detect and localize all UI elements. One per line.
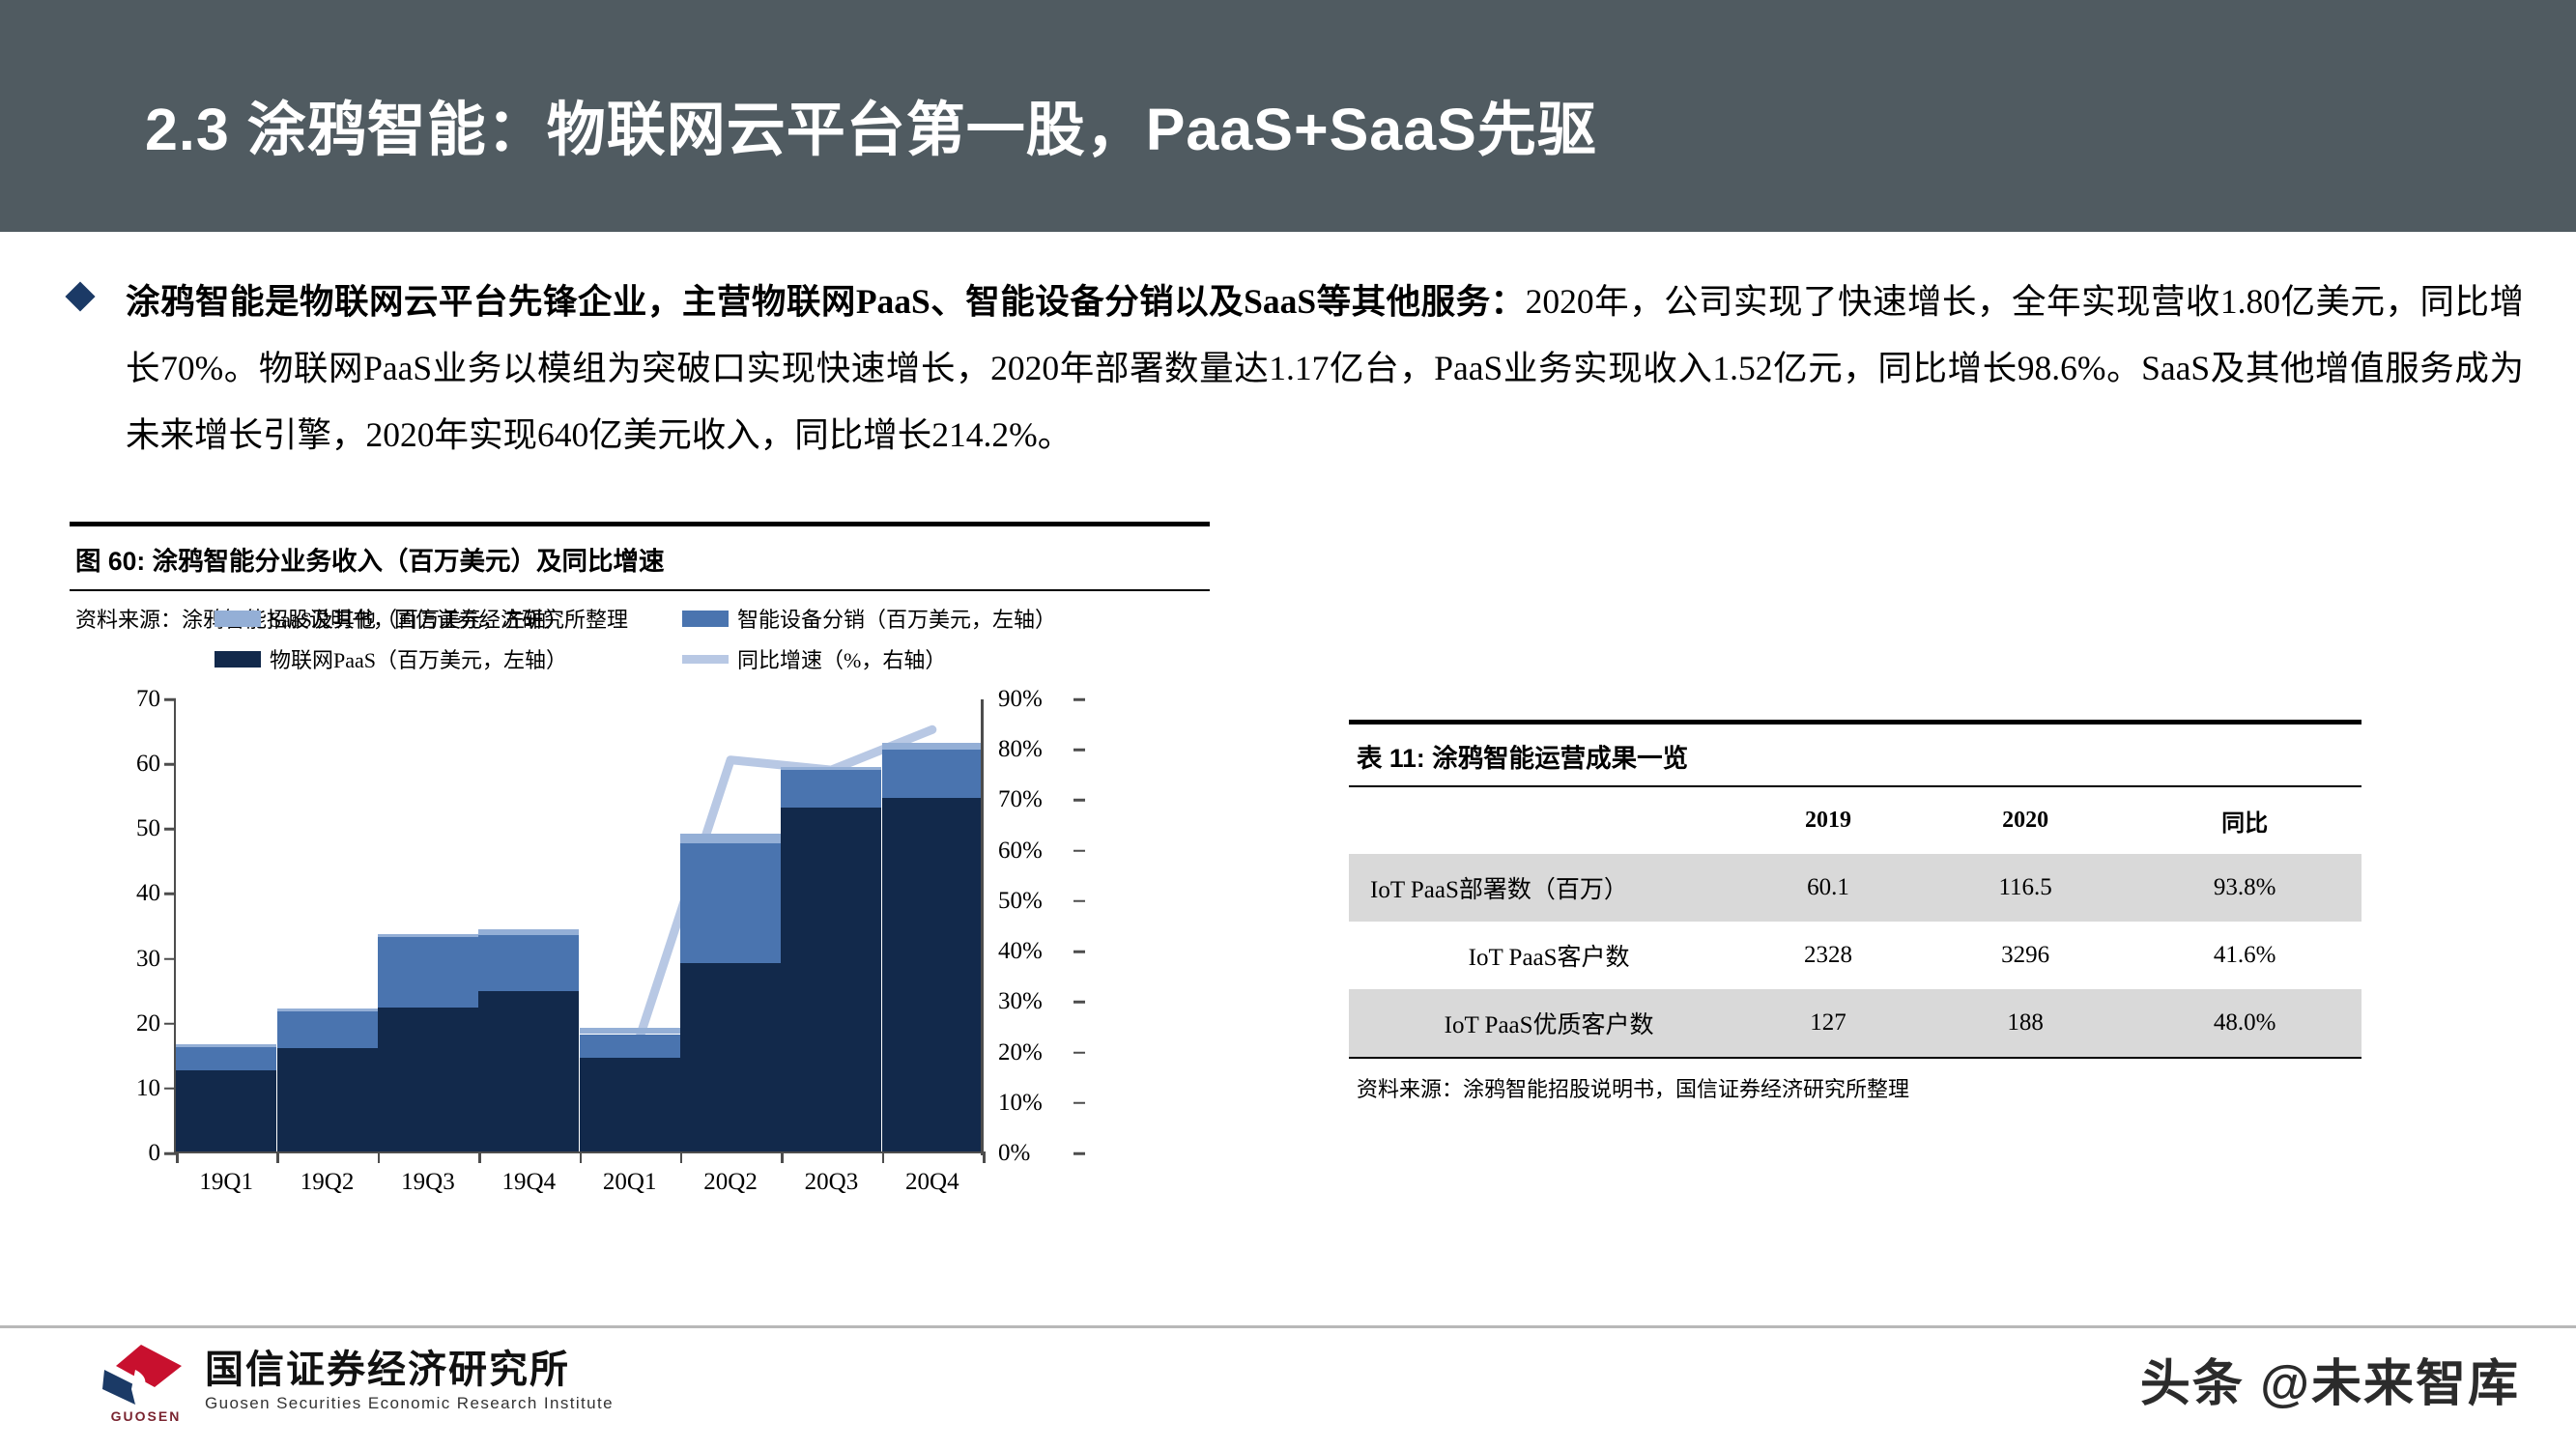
table-header-yoy: 同比 [2128,787,2361,854]
y-axis-right-tickmark [1073,1152,1085,1155]
legend-item-distribution: 智能设备分销（百万美元，左轴） [682,603,1056,634]
table-cell-label: IoT PaaS优质客户数 [1349,989,1733,1057]
legend-swatch-icon-paas [215,651,261,668]
bar-segment-distribution [378,937,478,1008]
y-axis-right-tickmark [1073,799,1085,802]
legend-label-paas: 物联网PaaS（百万美元，左轴） [270,643,567,674]
bar-segment-saas [580,1028,680,1034]
bar-segment-paas [580,1058,680,1151]
table-panel: 表 11: 涂鸦智能运营成果一览 2019 2020 同比 IoT PaaS部署… [1349,720,2361,1103]
y-axis-right-tick-label: 10% [998,1090,1043,1117]
bar-segment-distribution [680,843,781,963]
table-header-row: 2019 2020 同比 [1349,787,2361,854]
y-axis-right-tick-label: 60% [998,838,1043,865]
bar-segment-paas [781,808,881,1151]
y-axis-right-tickmark [1073,698,1085,701]
y-axis-left-tickmark [164,1022,176,1025]
slide-page: 2.3 涂鸦智能：物联网云平台第一股，PaaS+SaaS先驱 涂鸦智能是物联网云… [0,0,2576,1449]
bullet-paragraph: 涂鸦智能是物联网云平台先锋企业，主营物联网PaaS、智能设备分销以及SaaS等其… [126,269,2524,469]
table-cell-c2019: 127 [1733,989,1923,1057]
bar-segment-distribution [580,1035,680,1058]
y-axis-right-tick-label: 50% [998,888,1043,915]
legend-label-growth: 同比增速（%，右轴） [737,643,946,674]
y-axis-right-tickmark [1073,749,1085,752]
bar-segment-paas [882,798,983,1151]
table-source: 资料来源：涂鸦智能招股说明书，国信证券经济研究所整理 [1349,1059,2361,1103]
logo-name-cn: 国信证券经济研究所 [205,1350,614,1391]
bar-segment-saas [176,1044,276,1047]
y-axis-left-tickmark [164,893,176,895]
y-axis-left-tickmark [164,698,176,701]
table-cell-yoy: 41.6% [2128,922,2361,989]
x-axis-tick-label: 20Q4 [882,1169,983,1196]
bar-segment-distribution [882,750,983,798]
y-axis-left-tick-label: 70 [136,686,160,713]
x-axis-tickmark [680,1151,683,1163]
legend-item-growth: 同比增速（%，右轴） [682,643,946,674]
x-axis-tick-label: 19Q2 [277,1169,378,1196]
bar-segment-paas [378,1008,478,1151]
y-axis-right-tickmark [1073,1001,1085,1004]
table-header-2020: 2020 [1923,787,2128,854]
legend-swatch-icon-distribution [682,611,729,627]
x-axis-tick-label: 20Q3 [781,1169,881,1196]
bar-segment-saas [680,834,781,843]
table-body: IoT PaaS部署数（百万）60.1116.593.8%IoT PaaS客户数… [1349,854,2361,1057]
bar-segment-paas [176,1070,276,1151]
table-cell-yoy: 93.8% [2128,854,2361,922]
chart: SaaS及其他（百万美元，左轴） 智能设备分销（百万美元，左轴） 物联网PaaS… [70,591,1210,1267]
bar-segment-saas [277,1009,378,1011]
table-cell-label: IoT PaaS部署数（百万） [1349,854,1733,922]
bar-segment-distribution [277,1011,378,1048]
table-cell-label: IoT PaaS客户数 [1349,922,1733,989]
bar-segment-paas [680,963,781,1151]
table-caption: 表 11: 涂鸦智能运营成果一览 [1349,724,2361,785]
figure-caption: 图 60: 涂鸦智能分业务收入（百万美元）及同比增速 [70,526,1210,589]
bar-segment-paas [277,1048,378,1151]
bar-segment-saas [781,767,881,770]
table-cell-c2019: 60.1 [1733,854,1923,922]
bar-segment-saas [478,929,579,935]
y-axis-right-tick-label: 0% [998,1140,1030,1167]
chart-right-axis-line [981,699,984,1155]
legend-item-saas: SaaS及其他（百万美元，左轴） [215,603,567,634]
x-axis-tickmark [580,1151,583,1163]
table-cell-c2020: 188 [1923,989,2128,1057]
x-axis-tick-label: 20Q2 [680,1169,781,1196]
y-axis-right-tickmark [1073,1102,1085,1105]
y-axis-left-tick-label: 0 [149,1140,161,1167]
table-header-2019: 2019 [1733,787,1923,854]
legend-item-paas: 物联网PaaS（百万美元，左轴） [215,643,567,674]
y-axis-right-tickmark [1073,900,1085,903]
operations-table: 2019 2020 同比 IoT PaaS部署数（百万）60.1116.593.… [1349,787,2361,1057]
x-axis-tick-label: 19Q1 [176,1169,276,1196]
table-cell-c2020: 3296 [1923,922,2128,989]
logo-abbr: GUOSEN [102,1408,189,1424]
y-axis-left-tick-label: 20 [136,1010,160,1037]
y-axis-right-tickmark [1073,1051,1085,1054]
header-band: 2.3 涂鸦智能：物联网云平台第一股，PaaS+SaaS先驱 [0,0,2576,232]
y-axis-left-tickmark [164,1088,176,1091]
y-axis-right-tickmark [1073,951,1085,953]
y-axis-right-tick-label: 40% [998,938,1043,965]
bar-segment-saas [882,743,983,750]
y-axis-left-tick-label: 10 [136,1075,160,1102]
x-axis-tickmark [478,1151,481,1163]
table-row: IoT PaaS部署数（百万）60.1116.593.8% [1349,854,2361,922]
page-title: 2.3 涂鸦智能：物联网云平台第一股，PaaS+SaaS先驱 [145,81,1597,167]
y-axis-right-tickmark [1073,849,1085,852]
y-axis-left-tickmark [164,1152,176,1155]
watermark: 头条 @未来智库 [2140,1343,2520,1415]
bar-segment-distribution [478,935,579,990]
footer-divider [0,1325,2576,1328]
logo-name-en: Guosen Securities Economic Research Inst… [205,1394,614,1413]
table-header-blank [1349,787,1733,854]
bullet-block: 涂鸦智能是物联网云平台先锋企业，主营物联网PaaS、智能设备分销以及SaaS等其… [70,269,2524,469]
x-axis-tick-label: 20Q1 [580,1169,680,1196]
bar-segment-distribution [781,770,881,808]
chart-legend: SaaS及其他（百万美元，左轴） 智能设备分销（百万美元，左轴） 物联网PaaS… [215,603,1181,684]
y-axis-left-tick-label: 30 [136,946,160,973]
table-cell-c2019: 2328 [1733,922,1923,989]
legend-swatch-icon-saas [215,611,261,627]
y-axis-left-tickmark [164,763,176,766]
y-axis-left-tickmark [164,828,176,831]
x-axis-tickmark [176,1151,179,1163]
logo-text-block: 国信证券经济研究所 Guosen Securities Economic Res… [205,1350,614,1413]
diamond-bullet-icon [65,281,95,311]
y-axis-right-tick-label: 20% [998,1039,1043,1066]
y-axis-right-tick-label: 90% [998,686,1043,713]
y-axis-left-tick-label: 40 [136,880,160,907]
legend-label-saas: SaaS及其他（百万美元，左轴） [270,603,567,634]
table-cell-yoy: 48.0% [2128,989,2361,1057]
table-row: IoT PaaS客户数2328329641.6% [1349,922,2361,989]
bullet-lead-text: 涂鸦智能是物联网云平台先锋企业，主营物联网PaaS、智能设备分销以及SaaS等其… [126,282,1526,321]
legend-label-distribution: 智能设备分销（百万美元，左轴） [737,603,1056,634]
table-row: IoT PaaS优质客户数12718848.0% [1349,989,2361,1057]
table-cell-c2020: 116.5 [1923,854,2128,922]
x-axis-tickmark [276,1151,279,1163]
y-axis-right-tick-label: 70% [998,786,1043,813]
x-axis-tickmark [378,1151,381,1163]
footer-logo: GUOSEN 国信证券经济研究所 Guosen Securities Econo… [97,1341,614,1422]
legend-swatch-icon-growth [682,655,729,664]
y-axis-left-tick-label: 50 [136,815,160,842]
chart-plot-area: 0102030405060700%10%20%30%40%50%60%70%80… [174,699,981,1153]
y-axis-right-tick-label: 80% [998,736,1043,763]
y-axis-left-tick-label: 60 [136,751,160,778]
bar-segment-distribution [176,1047,276,1070]
bar-segment-saas [378,934,478,937]
y-axis-right-tick-label: 30% [998,988,1043,1015]
y-axis-left-tickmark [164,957,176,960]
x-axis-tickmark [781,1151,784,1163]
x-axis-tick-label: 19Q3 [378,1169,478,1196]
bar-segment-paas [478,991,579,1152]
guosen-diamond-logo-icon: GUOSEN [97,1341,189,1422]
x-axis-tickmark [882,1151,885,1163]
x-axis-tick-label: 19Q4 [478,1169,579,1196]
figure-panel: 图 60: 涂鸦智能分业务收入（百万美元）及同比增速 SaaS及其他（百万美元，… [70,522,1210,1267]
